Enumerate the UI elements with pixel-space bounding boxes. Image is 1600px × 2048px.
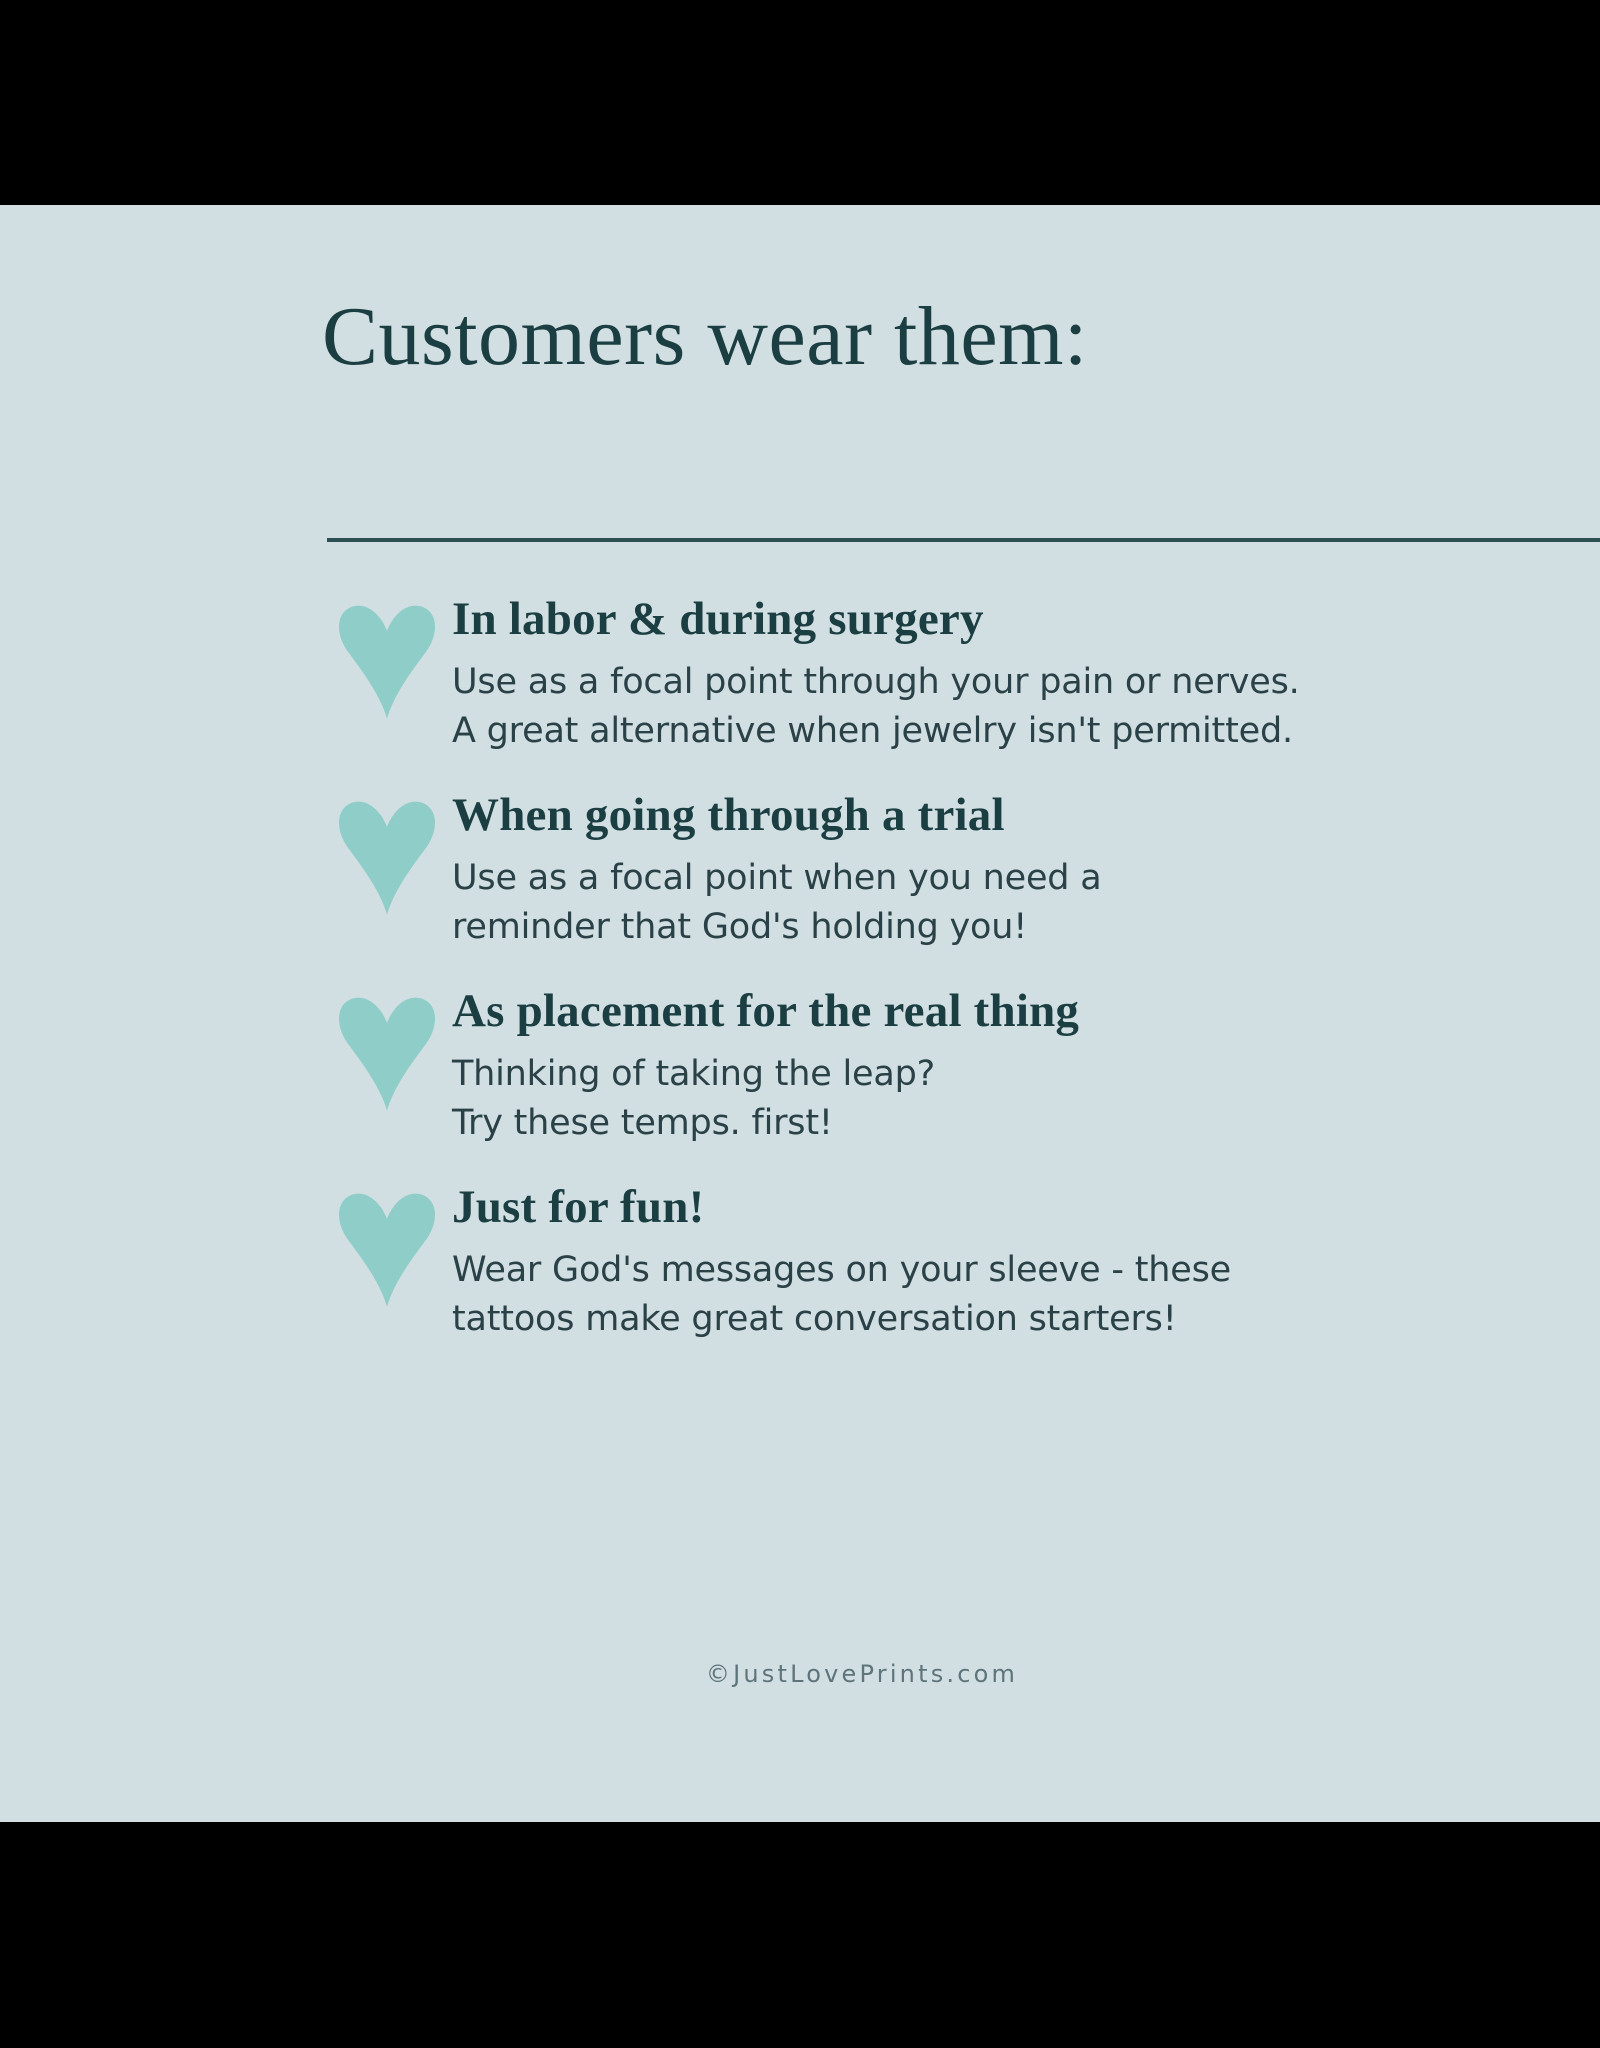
benefit-heading: In labor & during surgery [452, 593, 1600, 646]
poster-card: Customers wear them: In labor & during s… [0, 205, 1600, 1822]
benefit-item: Just for fun! Wear God's messages on you… [322, 1181, 1600, 1345]
benefit-item: When going through a trial Use as a foca… [322, 789, 1600, 953]
benefit-heading: Just for fun! [452, 1181, 1600, 1234]
letterbox-bar-top [0, 0, 1600, 205]
benefit-body: Use as a focal point when you need a rem… [452, 854, 1600, 953]
benefit-text: In labor & during surgery Use as a focal… [452, 593, 1600, 757]
benefits-list: In labor & during surgery Use as a focal… [322, 593, 1600, 1377]
benefit-icon-cell [322, 789, 452, 917]
page-title: Customers wear them: [322, 295, 1088, 379]
heart-icon [333, 995, 441, 1113]
benefit-item: In labor & during surgery Use as a focal… [322, 593, 1600, 757]
benefit-body: Use as a focal point through your pain o… [452, 658, 1600, 757]
title-divider [327, 538, 1600, 542]
benefit-body-line: Use as a focal point when you need a [452, 854, 1600, 904]
benefit-body: Thinking of taking the leap? Try these t… [452, 1050, 1600, 1149]
poster-frame: Customers wear them: In labor & during s… [0, 0, 1600, 2048]
footer-credit: ©JustLovePrints.com [322, 1660, 1402, 1688]
benefit-text: As placement for the real thing Thinking… [452, 985, 1600, 1149]
benefit-text: Just for fun! Wear God's messages on you… [452, 1181, 1600, 1345]
letterbox-bar-bottom [0, 1822, 1600, 2048]
benefit-body-line: Try these temps. first! [452, 1099, 1600, 1149]
benefit-body-line: Use as a focal point through your pain o… [452, 658, 1600, 708]
benefit-icon-cell [322, 985, 452, 1113]
benefit-heading: As placement for the real thing [452, 985, 1600, 1038]
benefit-heading: When going through a trial [452, 789, 1600, 842]
benefit-text: When going through a trial Use as a foca… [452, 789, 1600, 953]
benefit-body-line: Wear God's messages on your sleeve - the… [452, 1246, 1600, 1296]
benefit-body-line: Thinking of taking the leap? [452, 1050, 1600, 1100]
heart-icon [333, 603, 441, 721]
benefit-body: Wear God's messages on your sleeve - the… [452, 1246, 1600, 1345]
benefit-body-line: reminder that God's holding you! [452, 903, 1600, 953]
heart-icon [333, 799, 441, 917]
benefit-body-line: tattoos make great conversation starters… [452, 1295, 1600, 1345]
benefit-icon-cell [322, 1181, 452, 1309]
benefit-item: As placement for the real thing Thinking… [322, 985, 1600, 1149]
poster-content: Customers wear them: In labor & during s… [322, 205, 1600, 1822]
benefit-body-line: A great alternative when jewelry isn't p… [452, 707, 1600, 757]
benefit-icon-cell [322, 593, 452, 721]
heart-icon [333, 1191, 441, 1309]
